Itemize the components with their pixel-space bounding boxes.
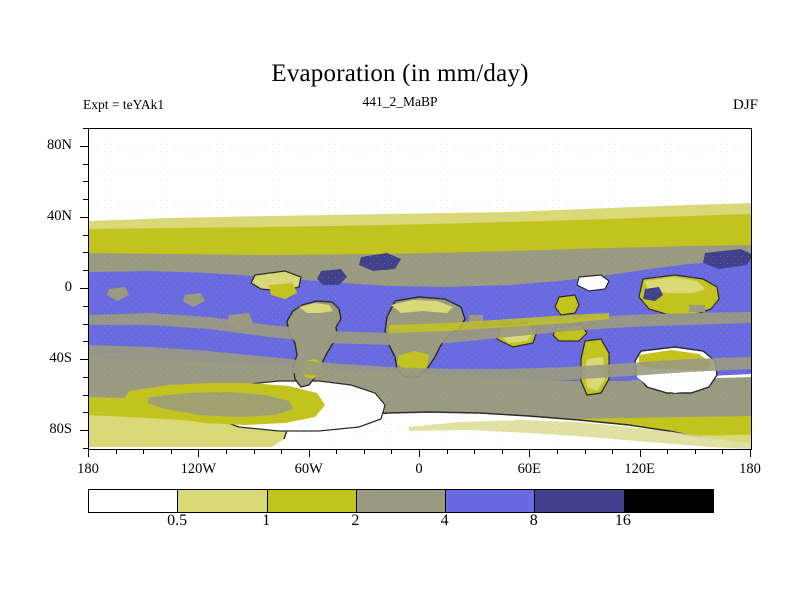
- x-axis-major-tick: [750, 449, 751, 457]
- colorbar-band: [356, 490, 445, 512]
- x-axis-tick: [695, 449, 696, 454]
- x-axis-label: 0: [379, 461, 459, 478]
- x-axis-tick: [447, 449, 448, 454]
- y-axis-tick: [83, 377, 88, 378]
- x-axis-tick: [667, 449, 668, 454]
- colorbar-band: [534, 490, 623, 512]
- x-axis-label: 120E: [600, 461, 680, 478]
- colorbar-band: [624, 490, 713, 512]
- colorbar-band: [89, 490, 177, 512]
- x-axis-tick: [254, 449, 255, 454]
- x-axis-label: 120W: [158, 461, 238, 478]
- y-axis-major-tick: [80, 146, 88, 147]
- x-axis-tick: [226, 449, 227, 454]
- x-axis-tick: [281, 449, 282, 454]
- y-axis-label: 0: [10, 279, 72, 296]
- y-axis-tick: [83, 341, 88, 342]
- colorbar-band: [267, 490, 356, 512]
- y-axis-tick: [83, 199, 88, 200]
- x-axis-tick: [364, 449, 365, 454]
- y-axis-tick: [83, 252, 88, 253]
- x-axis-tick: [116, 449, 117, 454]
- y-axis-tick: [83, 412, 88, 413]
- colorbar-band: [445, 490, 534, 512]
- y-axis-tick: [83, 235, 88, 236]
- x-axis-major-tick: [309, 449, 310, 457]
- x-axis-tick: [143, 449, 144, 454]
- x-axis-tick: [612, 449, 613, 454]
- y-axis-tick: [83, 128, 88, 129]
- x-axis-label: 60E: [489, 461, 569, 478]
- y-axis-label: 40S: [10, 350, 72, 367]
- colorbar-tick-labels: 0.5124816: [88, 512, 712, 536]
- y-axis-major-tick: [80, 359, 88, 360]
- colorbar-tick-label: 8: [530, 512, 538, 530]
- y-axis-label: 40N: [10, 208, 72, 225]
- x-axis-major-tick: [640, 449, 641, 457]
- x-axis-major-tick: [88, 449, 89, 457]
- colorbar-tick-label: 1: [262, 512, 270, 530]
- y-axis-tick: [83, 164, 88, 165]
- x-axis-major-tick: [529, 449, 530, 457]
- x-axis-label: 180: [710, 461, 790, 478]
- colorbar-tick-label: 4: [441, 512, 449, 530]
- y-axis-major-tick: [80, 217, 88, 218]
- evaporation-contour-map: [89, 129, 751, 449]
- season-label: DJF: [733, 97, 758, 114]
- x-axis-tick: [391, 449, 392, 454]
- colorbar-tick-label: 16: [615, 512, 631, 530]
- colorbar-tick-label: 0.5: [167, 512, 187, 530]
- x-axis-tick: [585, 449, 586, 454]
- y-axis-tick: [83, 306, 88, 307]
- chart-title: Evaporation (in mm/day): [0, 60, 800, 88]
- x-axis-tick: [171, 449, 172, 454]
- x-axis-major-tick: [419, 449, 420, 457]
- y-axis-tick: [83, 270, 88, 271]
- colorbar: [88, 489, 714, 513]
- x-axis-tick: [336, 449, 337, 454]
- x-axis-tick: [722, 449, 723, 454]
- figure-root: Evaporation (in mm/day) Expt = teYAk1 44…: [0, 0, 800, 600]
- x-axis-label: 180: [48, 461, 128, 478]
- y-axis-tick: [83, 324, 88, 325]
- x-axis-label: 60W: [269, 461, 349, 478]
- colorbar-band: [177, 490, 266, 512]
- y-axis-label: 80S: [10, 421, 72, 438]
- y-axis-tick: [83, 181, 88, 182]
- y-axis-tick: [83, 395, 88, 396]
- map-plot-area: [88, 128, 752, 450]
- x-axis-tick: [474, 449, 475, 454]
- x-axis-major-tick: [198, 449, 199, 457]
- y-axis-major-tick: [80, 430, 88, 431]
- run-id-label: 441_2_MaBP: [0, 94, 800, 110]
- y-axis-major-tick: [80, 288, 88, 289]
- x-axis-tick: [502, 449, 503, 454]
- x-axis-tick: [557, 449, 558, 454]
- y-axis-label: 80N: [10, 137, 72, 154]
- colorbar-tick-label: 2: [351, 512, 359, 530]
